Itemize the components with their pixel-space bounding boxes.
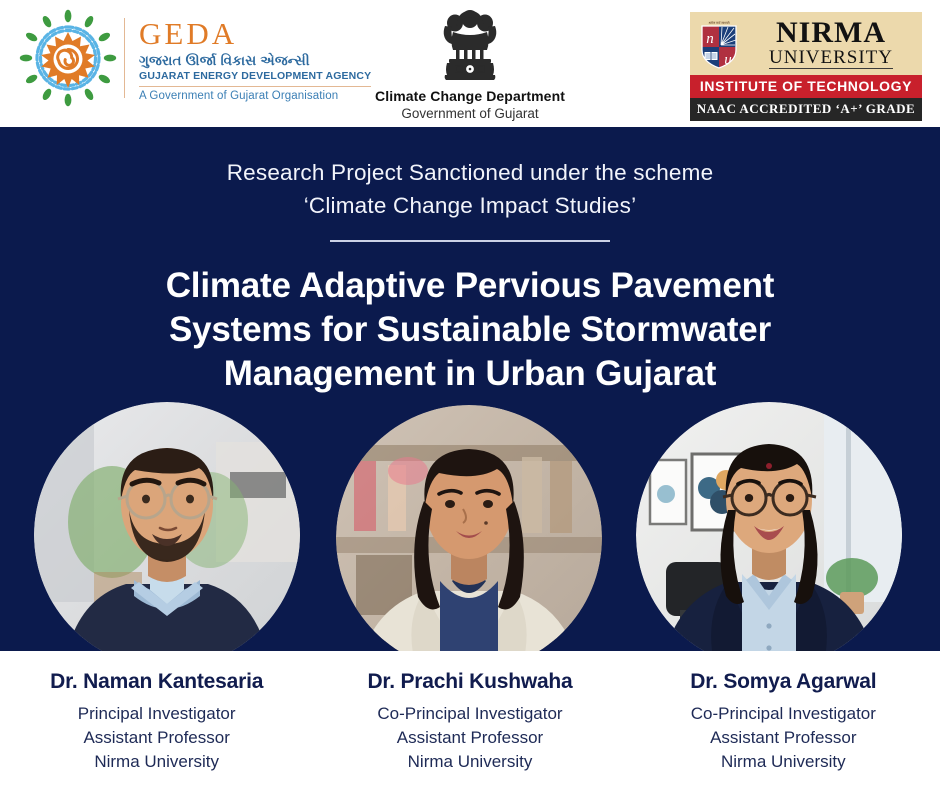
team-member-designation: Assistant Professor — [313, 726, 626, 750]
project-title-line-2: Systems for Sustainable Stormwater — [0, 308, 940, 352]
team-member-card: Dr. Prachi Kushwaha Co-Principal Investi… — [313, 670, 626, 774]
portrait-photo-icon — [34, 402, 300, 668]
team-member-card: Dr. Somya Agarwal Co-Principal Investiga… — [627, 670, 940, 774]
svg-text:n: n — [706, 31, 714, 47]
avatar-somya-agarwal — [636, 402, 902, 668]
scheme-line-2: ‘Climate Change Impact Studies’ — [0, 190, 940, 223]
title-divider-rule — [330, 240, 610, 242]
team-member-name: Dr. Prachi Kushwaha — [313, 670, 626, 694]
nirma-university-shield-icon: श्रमेण सर्वं साध्यते — [698, 18, 740, 70]
team-member-role: Co-Principal Investigator — [627, 702, 940, 726]
team-photos-row — [0, 402, 940, 674]
team-member-role: Principal Investigator — [0, 702, 313, 726]
team-member-name: Dr. Somya Agarwal — [627, 670, 940, 694]
team-member-affiliation: Nirma University — [313, 750, 626, 774]
portrait-photo-icon — [636, 402, 902, 668]
nirma-institute-band: INSTITUTE OF TECHNOLOGY — [690, 75, 922, 98]
header-bar: GEDA ગુજરાત ઊર્જા વિકાસ એજન્સી GUJARAT E… — [0, 0, 940, 127]
team-credits-footer: Dr. Naman Kantesaria Principal Investiga… — [0, 651, 940, 788]
nirma-university-logo-block: श्रमेण सर्वं साध्यते — [690, 12, 922, 121]
team-member-role: Co-Principal Investigator — [313, 702, 626, 726]
team-member-designation: Assistant Professor — [627, 726, 940, 750]
project-title-line-1: Climate Adaptive Pervious Pavement — [0, 264, 940, 308]
team-member-designation: Assistant Professor — [0, 726, 313, 750]
avatar-naman-kantesaria — [34, 402, 300, 668]
scheme-line-1: Research Project Sanctioned under the sc… — [0, 157, 940, 190]
svg-text:श्रमेण सर्वं साध्यते: श्रमेण सर्वं साध्यते — [708, 20, 729, 25]
nirma-accreditation-band: NAAC ACCREDITED ‘A+’ GRADE — [690, 98, 922, 121]
nirma-name-secondary: UNIVERSITY — [769, 48, 893, 69]
avatar-prachi-kushwaha — [336, 405, 602, 671]
nirma-name-band: श्रमेण सर्वं साध्यते — [690, 12, 922, 75]
team-member-card: Dr. Naman Kantesaria Principal Investiga… — [0, 670, 313, 774]
team-member-affiliation: Nirma University — [627, 750, 940, 774]
portrait-photo-icon — [336, 405, 602, 671]
ashoka-lion-capital-emblem-icon — [433, 6, 507, 86]
team-member-name: Dr. Naman Kantesaria — [0, 670, 313, 694]
scheme-statement: Research Project Sanctioned under the sc… — [0, 127, 940, 222]
project-title-line-3: Management in Urban Gujarat — [0, 352, 940, 396]
team-member-affiliation: Nirma University — [0, 750, 313, 774]
nirma-name-primary: NIRMA — [748, 19, 914, 48]
poster-root: GEDA ગુજરાત ઊર્જા વિકાસ એજન્સી GUJARAT E… — [0, 0, 940, 788]
project-title: Climate Adaptive Pervious Pavement Syste… — [0, 264, 940, 396]
team-credits-row: Dr. Naman Kantesaria Principal Investiga… — [0, 651, 940, 774]
